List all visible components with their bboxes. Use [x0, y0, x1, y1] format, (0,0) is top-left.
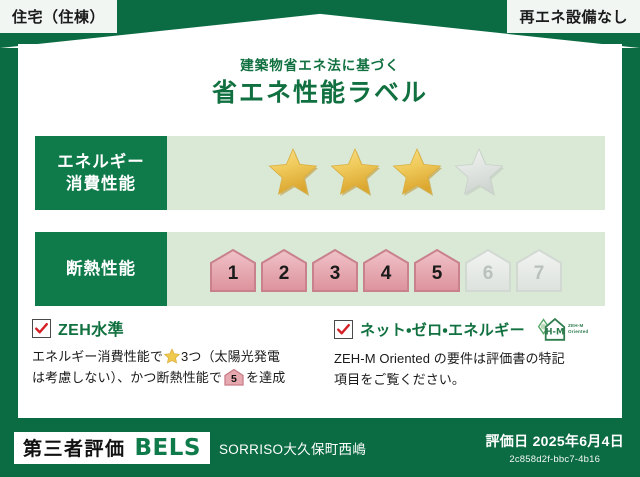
house-grade-empty: 6: [464, 246, 512, 293]
inline-house-grade-icon: 5: [224, 368, 244, 386]
zeh-body-part4: を達成: [246, 370, 285, 385]
house-grade-filled: 4: [362, 246, 410, 293]
bels-certification-mark: 第三者評価 BELS: [14, 432, 210, 464]
house-grade-number: 5: [432, 264, 443, 293]
insulation-performance-label: 断熱性能: [35, 232, 167, 306]
svg-text:H-M: H-M: [546, 327, 565, 337]
energy-performance-label: エネルギー 消費性能: [35, 136, 167, 210]
zeh-m-logo-caption: ZEH-M Oriented: [568, 323, 589, 334]
label-footer: 第三者評価 BELS SORRISO大久保町西嶋 評価日 2025年6月4日 2…: [0, 418, 640, 477]
house-grade-filled: 2: [260, 246, 308, 293]
bels-logo-text: BELS: [135, 435, 201, 461]
page-title: 省エネ性能ラベル: [18, 79, 622, 108]
zeh-body-part2: 3つ（太陽光発電: [181, 349, 280, 364]
net-zero-body: ZEH-M Oriented の要件は評価書の特記 項目をご覧ください。: [334, 348, 608, 390]
net-zero-body-line1: ZEH-M Oriented の要件は評価書の特記: [334, 351, 565, 366]
inline-star-icon: [164, 348, 180, 364]
energy-star-rating: [167, 136, 605, 210]
title-block: 建築物省エネ法に基づく 省エネ性能ラベル: [18, 58, 622, 108]
house-grade-filled: 3: [311, 246, 359, 293]
property-name: SORRISO大久保町西嶋: [219, 438, 366, 458]
house-grade-number: 3: [330, 264, 341, 293]
evaluation-date-label: 評価日: [485, 433, 528, 449]
house-grade-empty: 7: [515, 246, 563, 293]
house-grade-filled: 5: [413, 246, 461, 293]
zeh-body-part1: エネルギー消費性能で: [32, 349, 163, 364]
badge-building-type: 住宅（住棟）: [0, 0, 117, 33]
title-subtitle: 建築物省エネ法に基づく: [18, 58, 622, 74]
zeh-standard-block: ZEH水準 エネルギー消費性能で3つ（太陽光発電 は考慮しない）、かつ断熱性能で…: [18, 316, 320, 390]
house-grade-number: 1: [228, 264, 239, 293]
inline-house-grade-number: 5: [224, 371, 244, 388]
evaluation-id: 2c858d2f-bbc7-4b16: [485, 454, 624, 465]
net-zero-energy-block: ネット・ゼロ・エネルギー H-M ZEH-M Or: [320, 316, 622, 390]
zeh-standard-title: ZEH水準: [58, 316, 124, 340]
star-filled-icon: [266, 147, 320, 199]
star-empty-icon: [452, 147, 506, 199]
insulation-performance-row: 断熱性能 1234567: [35, 232, 605, 306]
house-grade-number: 6: [483, 264, 494, 293]
zeh-m-oriented-logo: H-M ZEH-M Oriented: [536, 316, 589, 342]
house-grade-number: 4: [381, 264, 392, 293]
badge-renewable-energy: 再エネ設備なし: [507, 0, 640, 33]
zeh-m-caption-line2: Oriented: [568, 329, 589, 334]
energy-label-line1: エネルギー: [57, 151, 145, 173]
evaluation-date-value: 2025年6月4日: [533, 433, 624, 449]
checkbox-checked-icon: [32, 319, 51, 338]
zeh-m-caption-line1: ZEH-M: [568, 323, 584, 328]
star-filled-icon: [390, 147, 444, 199]
evaluation-date-line: 評価日 2025年6月4日: [485, 431, 624, 451]
zeh-standard-heading: ZEH水準: [32, 316, 306, 340]
insulation-grade-scale: 1234567: [167, 232, 605, 306]
zeh-standard-body: エネルギー消費性能で3つ（太陽光発電 は考慮しない）、かつ断熱性能で5を達成: [32, 346, 306, 388]
label-card: 建築物省エネ法に基づく 省エネ性能ラベル エネルギー 消費性能 断熱性能 123…: [18, 44, 622, 418]
energy-label-line2: 消費性能: [66, 173, 136, 195]
energy-performance-label: 住宅（住棟） 再エネ設備なし 建築物省エネ法に基づく 省エネ性能ラベル エネルギ…: [0, 0, 640, 477]
house-grade-list: 1234567: [209, 246, 563, 293]
insulation-label-text: 断熱性能: [66, 258, 136, 280]
checkbox-checked-icon-2: [334, 320, 353, 339]
house-grade-number: 7: [534, 264, 545, 293]
star-filled-icon: [328, 147, 382, 199]
zeh-body-part3: は考慮しない）、かつ断熱性能で: [32, 370, 222, 385]
third-party-evaluation-label: 第三者評価: [23, 434, 126, 461]
net-zero-body-line2: 項目をご覧ください。: [334, 372, 465, 387]
net-zero-heading: ネット・ゼロ・エネルギー H-M ZEH-M Or: [334, 316, 608, 342]
net-zero-title: ネット・ゼロ・エネルギー: [360, 319, 525, 340]
info-section: ZEH水準 エネルギー消費性能で3つ（太陽光発電 は考慮しない）、かつ断熱性能で…: [18, 316, 622, 390]
house-grade-number: 2: [279, 264, 290, 293]
zeh-m-house-icon: H-M: [536, 316, 566, 342]
energy-performance-row: エネルギー 消費性能: [35, 136, 605, 210]
evaluation-info: 評価日 2025年6月4日 2c858d2f-bbc7-4b16: [485, 431, 624, 465]
house-grade-filled: 1: [209, 246, 257, 293]
